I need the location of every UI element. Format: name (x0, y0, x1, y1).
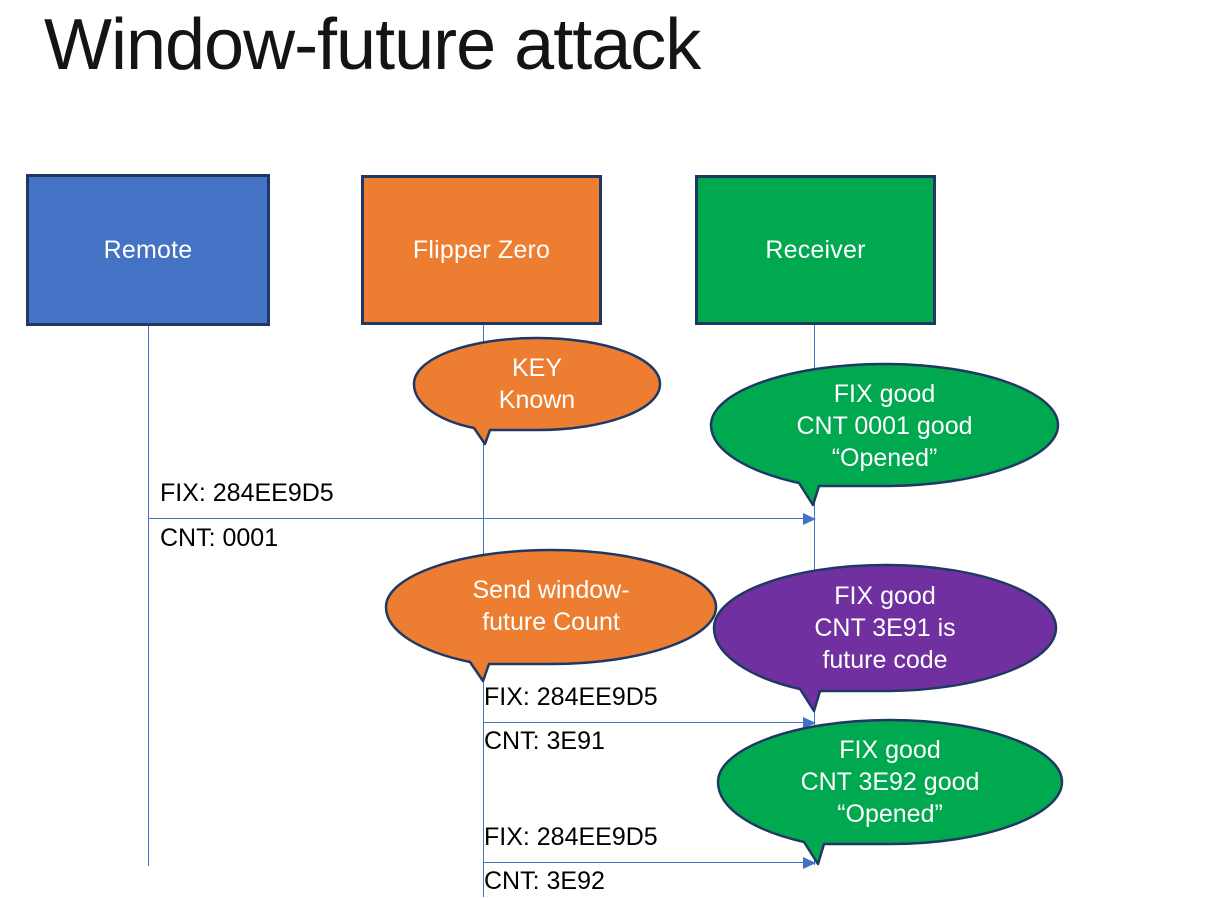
speech-bubble-key-known: KEY Known (412, 336, 662, 446)
lifeline-remote (148, 326, 149, 866)
actor-box-receiver[interactable]: Receiver (695, 175, 936, 325)
message-2-fix-label: FIX: 284EE9D5 (484, 683, 658, 712)
actor-box-flipper-zero[interactable]: Flipper Zero (361, 175, 602, 325)
message-1-arrow (148, 518, 815, 519)
speech-bubble-shape (384, 548, 718, 683)
message-1-cnt-label: CNT: 0001 (160, 524, 278, 553)
speech-bubble-fix-good-0001: FIX good CNT 0001 good “Opened” (709, 362, 1060, 507)
message-1-fix-label: FIX: 284EE9D5 (160, 479, 334, 508)
actor-label-remote: Remote (104, 236, 193, 265)
actor-box-remote[interactable]: Remote (26, 174, 270, 326)
speech-bubble-fix-good-3e92: FIX good CNT 3E92 good “Opened” (716, 718, 1064, 866)
message-2-cnt-label: CNT: 3E91 (484, 727, 605, 756)
speech-bubble-shape (712, 563, 1058, 713)
page-title: Window-future attack (44, 6, 1044, 85)
actor-label-receiver: Receiver (765, 236, 865, 265)
slide-canvas: Window-future attack Remote Flipper Zero… (0, 0, 1216, 898)
message-3-cnt-label: CNT: 3E92 (484, 867, 605, 896)
speech-bubble-send-window-future-count: Send window- future Count (384, 548, 718, 683)
speech-bubble-shape (716, 718, 1064, 866)
speech-bubble-shape (709, 362, 1060, 507)
message-3-fix-label: FIX: 284EE9D5 (484, 823, 658, 852)
speech-bubble-future-code: FIX good CNT 3E91 is future code (712, 563, 1058, 713)
actor-label-flipper-zero: Flipper Zero (413, 236, 550, 265)
speech-bubble-shape (412, 336, 662, 446)
